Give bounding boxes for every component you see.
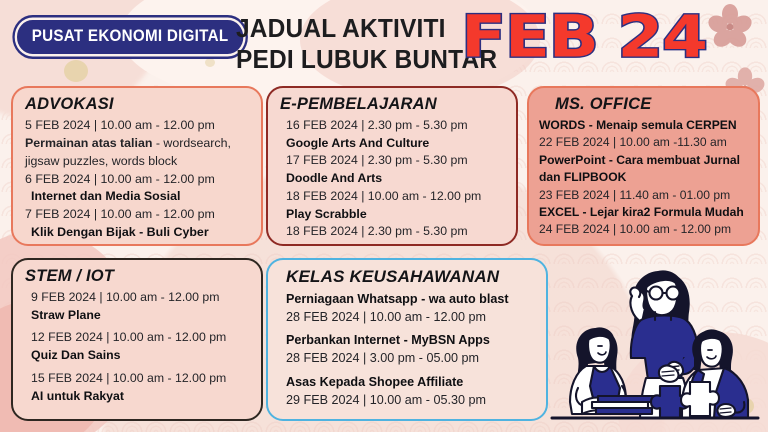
schedule-activity: Internet dan Media Sosial [25, 188, 251, 206]
month-label: FEB [461, 8, 598, 66]
schedule-datetime: 15 FEB 2024 | 10.00 am - 12.00 pm [25, 370, 251, 388]
schedule-datetime: 18 FEB 2024 | 2.30 pm - 5.30 pm [280, 223, 506, 241]
schedule-activity-cont: dan FLIPBOOK [539, 169, 748, 186]
schedule-activity: Perbankan Internet - MyBSN Apps [280, 331, 536, 349]
schedule-datetime: 23 FEB 2024 | 11.40 am - 01.00 pm [539, 187, 748, 204]
page-title-line1: JADUAL AKTIVITI [236, 14, 497, 45]
schedule-activity: Perniagaan Whatsapp - wa auto blast [280, 290, 536, 308]
schedule-activity: Klik Dengan Bijak - Buli Cyber [25, 224, 251, 242]
schedule-datetime: 28 FEB 2024 | 10.00 am - 12.00 pm [280, 308, 536, 326]
organization-badge: PUSAT EKONOMI DIGITAL [17, 20, 243, 54]
schedule-activity: WORDS - Menaip semula CERPEN [539, 117, 748, 134]
schedule-card-kelas-keusahawanan: KELAS KEUSAHAWANAN Perniagaan Whatsapp -… [266, 258, 548, 421]
schedule-datetime: 16 FEB 2024 | 2.30 pm - 5.30 pm [280, 117, 506, 135]
poster-canvas: PUSAT EKONOMI DIGITAL JADUAL AKTIVITI PE… [0, 0, 768, 432]
page-title-line2: PEDI LUBUK BUNTAR [236, 45, 497, 76]
schedule-activity: Straw Plane [25, 307, 251, 325]
schedule-activity: Doodle And Arts [280, 170, 506, 188]
schedule-activity: Quiz Dan Sains [25, 347, 251, 365]
schedule-card-advokasi: ADVOKASI 5 FEB 2024 | 10.00 am - 12.00 p… [11, 86, 263, 246]
schedule-datetime: 7 FEB 2024 | 10.00 am - 12.00 pm [25, 206, 251, 224]
schedule-activity: Permainan atas talian - wordsearch, jigs… [25, 135, 251, 171]
card-title: MS. OFFICE [539, 95, 748, 114]
schedule-datetime: 28 FEB 2024 | 3.00 pm - 05.00 pm [280, 349, 536, 367]
activity-name: Permainan atas talian [25, 136, 152, 150]
year-label: 24 [617, 8, 706, 66]
schedule-activity: Asas Kepada Shopee Affiliate [280, 373, 536, 391]
schedule-activity: EXCEL - Lejar kira2 Formula Mudah [539, 204, 748, 221]
card-title: E-PEMBELAJARAN [280, 95, 506, 114]
schedule-datetime: 6 FEB 2024 | 10.00 am - 12.00 pm [25, 171, 251, 189]
schedule-activity: PowerPoint - Cara membuat Jurnal [539, 152, 748, 169]
card-title: ADVOKASI [25, 95, 251, 114]
schedule-card-epembelajaran: E-PEMBELAJARAN 16 FEB 2024 | 2.30 pm - 5… [266, 86, 518, 246]
three-people-learning-illustration [548, 262, 762, 420]
schedule-card-msoffice: MS. OFFICE WORDS - Menaip semula CERPEN … [527, 86, 760, 246]
card-title: STEM / IOT [25, 267, 251, 286]
schedule-card-stem-iot: STEM / IOT 9 FEB 2024 | 10.00 am - 12.00… [11, 258, 263, 421]
schedule-datetime: 18 FEB 2024 | 10.00 am - 12.00 pm [280, 188, 506, 206]
schedule-activity: AI untuk Rakyat [25, 388, 251, 406]
schedule-datetime: 9 FEB 2024 | 10.00 am - 12.00 pm [25, 289, 251, 307]
poster-header: PUSAT EKONOMI DIGITAL JADUAL AKTIVITI PE… [0, 0, 768, 86]
schedule-datetime: 5 FEB 2024 | 10.00 am - 12.00 pm [25, 117, 251, 135]
page-title: JADUAL AKTIVITI PEDI LUBUK BUNTAR [236, 14, 497, 76]
schedule-datetime: 22 FEB 2024 | 10.00 am -11.30 am [539, 134, 748, 151]
card-title: KELAS KEUSAHAWANAN [280, 267, 536, 287]
schedule-activity: Google Arts And Culture [280, 135, 506, 153]
schedule-datetime: 12 FEB 2024 | 10.00 am - 12.00 pm [25, 329, 251, 347]
schedule-activity: Play Scrabble [280, 206, 506, 224]
schedule-datetime: 17 FEB 2024 | 2.30 pm - 5.30 pm [280, 152, 506, 170]
schedule-datetime: 29 FEB 2024 | 10.00 am - 05.30 pm [280, 391, 536, 409]
month-year-display: FEB 24 [465, 6, 704, 68]
schedule-datetime: 24 FEB 2024 | 10.00 am - 12.00 pm [539, 221, 748, 238]
